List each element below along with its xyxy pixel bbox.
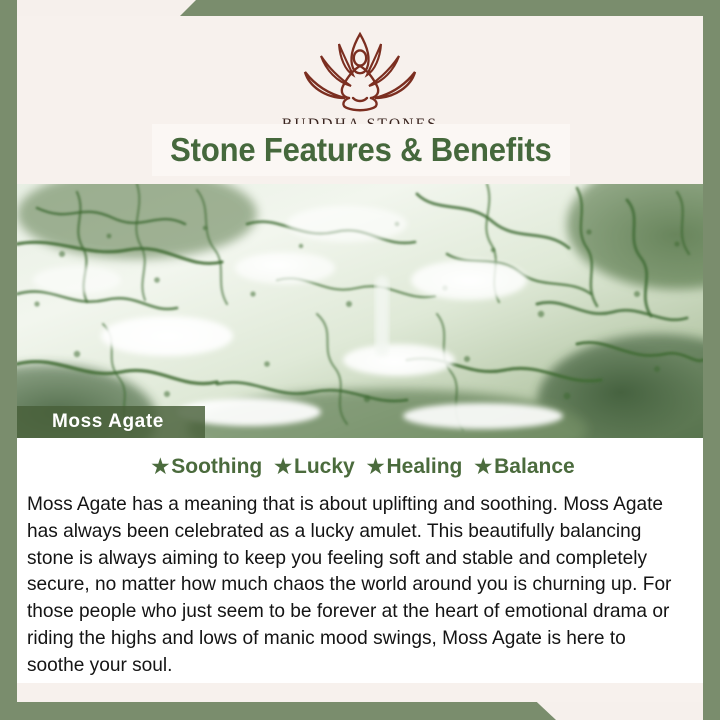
- stone-name: Moss Agate: [52, 411, 164, 433]
- frame-band-left: [0, 0, 17, 720]
- content-card: BUDDHA STONES Stone Features & Benefits: [17, 16, 703, 702]
- feature-item-soothing: ★Soothing: [145, 454, 262, 479]
- feature-item-healing: ★Healing: [361, 454, 463, 479]
- feature-label: Lucky: [294, 455, 355, 478]
- page-title: Stone Features & Benefits: [170, 131, 551, 169]
- moss-agate-texture: [17, 184, 703, 438]
- brand-logo: BUDDHA STONES: [17, 28, 703, 134]
- stone-photo: Moss Agate: [17, 184, 703, 438]
- lotus-meditation-icon: [285, 28, 435, 114]
- frame-band-top: [0, 0, 720, 16]
- star-icon: ★: [367, 456, 385, 478]
- feature-label: Healing: [387, 455, 463, 478]
- star-icon: ★: [474, 456, 492, 478]
- star-icon: ★: [274, 456, 292, 478]
- stone-description: Moss Agate has a meaning that is about u…: [27, 491, 683, 679]
- feature-label: Balance: [494, 455, 575, 478]
- feature-label: Soothing: [171, 455, 262, 478]
- feature-item-lucky: ★Lucky: [268, 454, 355, 479]
- feature-item-balance: ★Balance: [468, 454, 574, 479]
- page-title-bar: Stone Features & Benefits: [152, 124, 570, 176]
- stone-info-panel: ★Soothing ★Lucky ★Healing ★Balance Moss …: [17, 438, 703, 683]
- footer-strip: [17, 683, 703, 702]
- stone-name-banner: Moss Agate: [17, 406, 205, 438]
- frame-band-right: [703, 0, 720, 720]
- features-list: ★Soothing ★Lucky ★Healing ★Balance: [17, 454, 703, 479]
- infographic-page: BUDDHA STONES Stone Features & Benefits: [0, 0, 720, 720]
- star-icon: ★: [151, 456, 169, 478]
- brand-header: BUDDHA STONES Stone Features & Benefits: [17, 16, 703, 184]
